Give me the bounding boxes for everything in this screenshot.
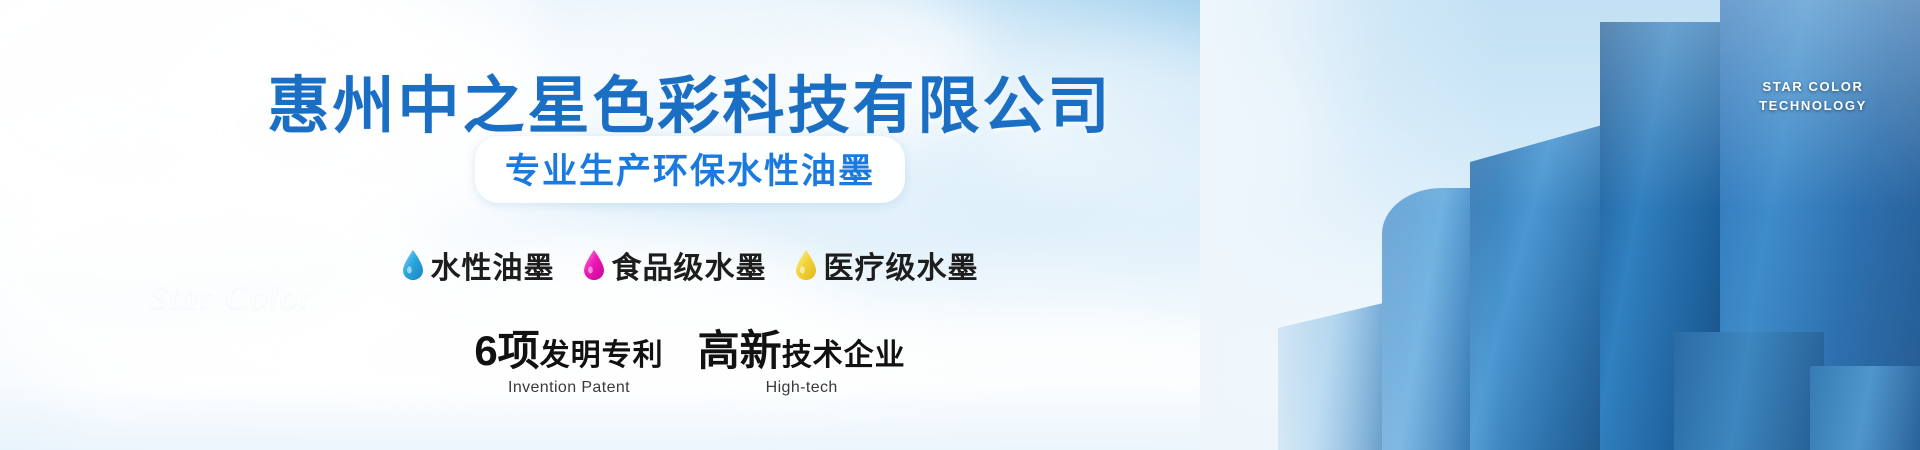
credential-count: 高新: [698, 327, 782, 374]
promotional-banner: Star Color STAR COLOR TECHNOLOGY 惠州中之星色彩…: [0, 0, 1920, 450]
product-label: 医疗级水墨: [824, 243, 979, 287]
company-title: 惠州中之星色彩科技有限公司: [0, 55, 1380, 145]
product-label: 水性油墨: [431, 243, 555, 287]
credential-heading: 6项发明专利: [474, 330, 663, 372]
water-droplet-icon: [583, 250, 605, 280]
corner-brand-label: STAR COLOR TECHNOLOGY: [1738, 78, 1888, 116]
credential-high-tech: 高新技术企业 High-tech: [698, 330, 906, 397]
credential-text: 技术企业: [782, 339, 906, 372]
product-item-food-grade-ink: 食品级水墨: [583, 243, 767, 287]
subtitle-pill: 专业生产环保水性油墨: [475, 136, 905, 203]
building-front: [1674, 332, 1824, 450]
product-label: 食品级水墨: [612, 243, 767, 287]
credential-heading: 高新技术企业: [698, 330, 906, 372]
subtitle-pill-container: 专业生产环保水性油墨: [0, 136, 1380, 203]
banner-content: 惠州中之星色彩科技有限公司 专业生产环保水性油墨: [0, 0, 1380, 450]
credential-subtitle: High-tech: [698, 379, 906, 397]
water-droplet-icon: [402, 250, 424, 280]
credential-subtitle: Invention Patent: [474, 379, 663, 397]
credential-count: 6项: [474, 327, 539, 374]
credential-invention-patent: 6项发明专利 Invention Patent: [474, 330, 663, 397]
building-front-secondary: [1810, 366, 1920, 450]
product-item-medical-grade-ink: 医疗级水墨: [795, 243, 979, 287]
corner-label-line-1: STAR COLOR: [1738, 78, 1888, 97]
credential-text: 发明专利: [540, 339, 664, 372]
credentials-list: 6项发明专利 Invention Patent 高新技术企业 High-tech: [0, 330, 1380, 397]
corner-label-line-2: TECHNOLOGY: [1738, 97, 1888, 116]
product-list: 水性油墨: [0, 243, 1380, 287]
water-droplet-icon: [795, 250, 817, 280]
product-item-water-based-ink: 水性油墨: [402, 243, 555, 287]
